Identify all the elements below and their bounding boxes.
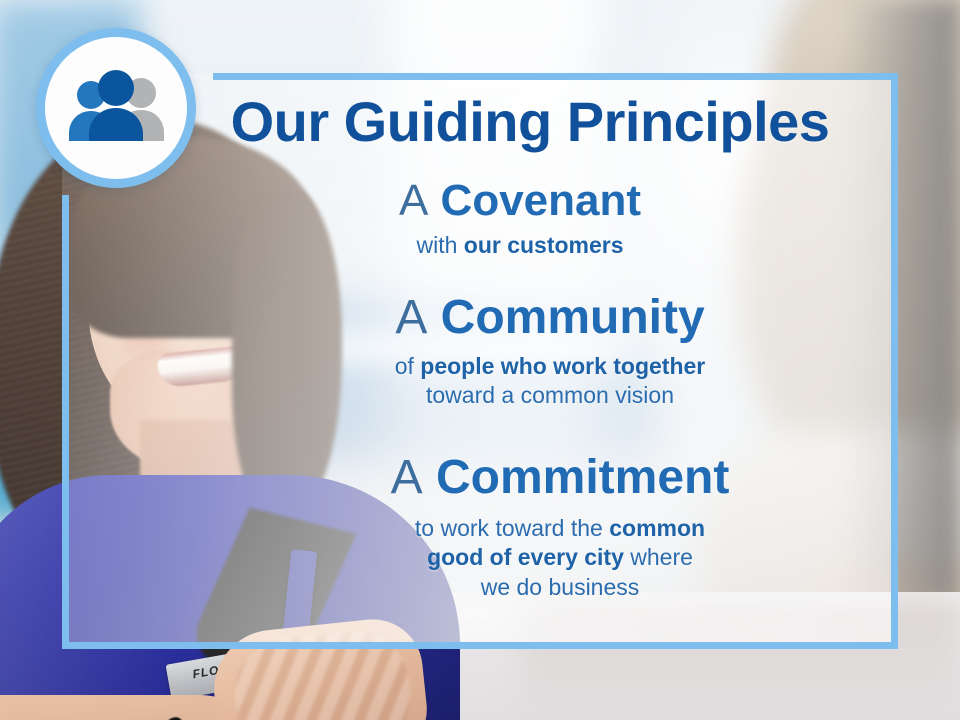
principle-commitment: A Commitment to work toward the common g… xyxy=(200,453,920,602)
principle-covenant-article: A xyxy=(399,176,428,225)
principle-community: A Community of people who work together … xyxy=(200,293,900,411)
commitment-line1-bold: common xyxy=(609,515,705,541)
principle-community-keyword: Community xyxy=(441,291,705,344)
principle-community-article: A xyxy=(395,291,427,344)
principle-covenant-body: with our customers xyxy=(200,231,840,260)
community-line1-lead: of xyxy=(395,353,421,379)
community-body-line2: toward a common vision xyxy=(200,381,900,410)
covenant-body-bold: our customers xyxy=(464,232,624,258)
commitment-body-line3: we do business xyxy=(200,573,920,602)
people-group-icon xyxy=(36,28,196,188)
commitment-line1-lead: to work toward the xyxy=(415,515,609,541)
principle-covenant: A Covenant with our customers xyxy=(200,178,840,260)
principle-commitment-article: A xyxy=(391,451,423,504)
community-line1-bold: people who work together xyxy=(420,353,705,379)
principle-commitment-title: A Commitment xyxy=(200,453,920,504)
principle-community-title: A Community xyxy=(200,293,900,344)
page-title: Our Guiding Principles xyxy=(200,94,860,150)
principle-covenant-title: A Covenant xyxy=(200,178,840,225)
text-content: Our Guiding Principles A Covenant with o… xyxy=(200,78,890,638)
principle-covenant-keyword: Covenant xyxy=(441,176,641,225)
principle-community-body: of people who work together toward a com… xyxy=(200,352,900,411)
commitment-line2-tail: where xyxy=(624,544,693,570)
community-body-line1: of people who work together xyxy=(200,352,900,381)
covenant-body-lead: with xyxy=(416,232,463,258)
commitment-body-line2: good of every city where xyxy=(200,543,920,572)
guiding-principles-graphic: FLOW FLOW Our Guiding Principles xyxy=(0,0,960,720)
commitment-body-line1: to work toward the common xyxy=(200,514,920,543)
commitment-line2-bold: good of every city xyxy=(427,544,624,570)
principle-commitment-body: to work toward the common good of every … xyxy=(200,514,920,602)
principle-commitment-keyword: Commitment xyxy=(436,451,729,504)
